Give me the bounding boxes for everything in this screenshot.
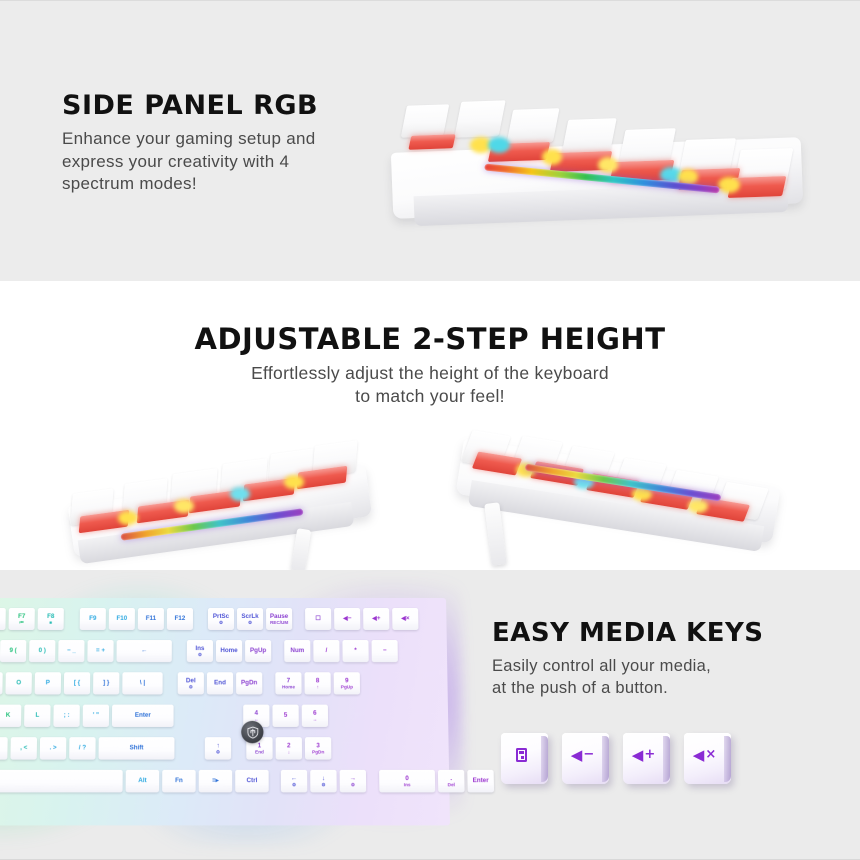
keycap[interactable]: F10 xyxy=(109,608,135,630)
keycap-legend: ScrLk xyxy=(241,613,258,620)
key-row-qwerty-row: IOP[ {] }\ |Del⚙EndPgDn7Home8↑9PgUp xyxy=(0,672,360,694)
speaker-icon-shape: ◀ xyxy=(693,746,705,764)
keycap-legend: ↓ xyxy=(322,775,325,782)
side-rgb-text-block: SIDE PANEL RGB Enhance your gaming setup… xyxy=(62,89,392,196)
speaker-icon-shape: ◀ xyxy=(632,746,644,764)
led-glow xyxy=(284,475,304,489)
keycap[interactable]: F9 xyxy=(80,608,106,630)
keycap-sublegend: PgDn xyxy=(312,749,324,754)
keycap-legend: ◀× xyxy=(401,615,409,622)
keycap-legend: − xyxy=(383,648,387,655)
keycap[interactable]: End xyxy=(207,672,233,694)
keyboard-closeup-rgb: 5F7⏮F8■F9F10F11F12PrtSc⚙ScrLk⚙PauseREC/U… xyxy=(0,598,450,825)
keycap-sublegend: ⚙ xyxy=(351,782,355,787)
keycap-legend: ↑ xyxy=(216,742,219,749)
keycap[interactable]: . > xyxy=(40,737,67,759)
keycap-legend: ◀+ xyxy=(372,615,380,622)
keycap[interactable]: = + xyxy=(87,640,113,662)
keycap[interactable]: 2↓ xyxy=(276,737,302,759)
keycap-sublegend: ⚙ xyxy=(189,684,193,689)
keycap[interactable]: ' " xyxy=(83,705,109,727)
keycap[interactable]: K xyxy=(0,705,21,727)
keycap[interactable]: 7Home xyxy=(275,672,301,694)
keycap-legend: End xyxy=(214,680,226,687)
keycap-legend: , < xyxy=(20,745,27,752)
keycap-legend: . xyxy=(450,775,452,782)
keycap xyxy=(506,108,559,144)
subtext-line: at the push of a button. xyxy=(492,677,832,699)
media-key-label: + xyxy=(644,747,655,762)
keycap-sublegend: End xyxy=(255,749,264,754)
keycap[interactable]: ◀+ xyxy=(363,608,389,630)
mute-key[interactable]: ◀× xyxy=(684,733,731,784)
subtext-line: Effortlessly adjust the height of the ke… xyxy=(0,362,860,385)
keycap-legend: 7 xyxy=(287,677,291,684)
keycap[interactable]: ◀− xyxy=(334,608,360,630)
keycap[interactable]: PrtSc⚙ xyxy=(208,608,234,630)
keycap-legend: PrtSc xyxy=(213,613,229,620)
fantech-logo xyxy=(241,721,263,743)
keycap-legend: ◀− xyxy=(343,615,351,622)
key-row-bottom-row: AltFn≡▸Ctrl←⚙↓⚙→⚙0Ins.DelEnter xyxy=(0,770,494,793)
led-glow xyxy=(542,149,562,165)
keycap[interactable]: PgUp xyxy=(245,640,271,662)
keycap[interactable]: , < xyxy=(10,737,37,759)
speaker-icon: ◀− xyxy=(571,746,594,764)
keycap-legend: ; : xyxy=(64,712,70,719)
keycap-legend: ] } xyxy=(103,680,109,687)
keycap[interactable]: ☐ xyxy=(305,608,331,630)
keycap-sublegend: → xyxy=(313,717,318,722)
keycap[interactable]: Del⚙ xyxy=(178,672,204,694)
keycap-legend: PgDn xyxy=(241,680,257,687)
keycap[interactable] xyxy=(0,770,123,793)
keycap-legend: Pause xyxy=(270,613,288,620)
kickstand-foot xyxy=(484,502,506,565)
keycap-legend: ← xyxy=(291,775,297,782)
keycap-legend: Ctrl xyxy=(247,777,258,784)
keycap[interactable]: Shift xyxy=(98,737,174,759)
keycap[interactable]: / xyxy=(313,640,339,662)
keycap[interactable]: ← xyxy=(116,640,171,662)
media-keycap-row: ◀−◀+◀× xyxy=(501,733,731,784)
led-glow xyxy=(598,157,618,173)
keycap[interactable]: 6→ xyxy=(302,705,328,727)
calculator-icon-shape xyxy=(516,748,527,762)
keycap[interactable]: ScrLk⚙ xyxy=(237,608,263,630)
keycap-legend: F12 xyxy=(175,615,186,622)
keycap-sublegend: ■ xyxy=(49,620,52,625)
subtext-line: express your creativity with 4 xyxy=(62,151,392,174)
keycap-legend: 4 xyxy=(255,709,259,716)
keycap[interactable]: Num xyxy=(284,640,310,662)
keycap-legend: 2 xyxy=(287,742,291,749)
keycap[interactable]: F11 xyxy=(138,608,164,630)
keycap[interactable]: [ { xyxy=(64,672,90,694)
keycap-sublegend: ↓ xyxy=(288,749,290,754)
keycap[interactable]: 0Ins xyxy=(379,770,435,793)
keycap-legend: → xyxy=(350,775,356,782)
keycap-legend: Shift xyxy=(130,745,144,752)
keycap-legend: Home xyxy=(220,648,237,655)
keycap[interactable]: 9PgUp xyxy=(334,672,360,694)
keyboard-side-view-high-angle xyxy=(452,423,792,563)
keycap[interactable]: 9 ( xyxy=(0,640,26,662)
keycap-sublegend: ⚙ xyxy=(219,620,223,625)
keycap-sublegend: Del xyxy=(448,782,455,787)
keycap[interactable]: ◀× xyxy=(392,608,418,630)
side-rgb-subtext: Enhance your gaming setup and express yo… xyxy=(62,128,392,196)
keycap[interactable]: Enter xyxy=(112,705,174,727)
keycap-legend: F8 xyxy=(47,613,54,620)
keycap[interactable]: I xyxy=(0,672,3,694)
media-key-label: − xyxy=(583,747,594,762)
keycap[interactable]: M xyxy=(0,737,8,759)
keycap[interactable]: 3PgDn xyxy=(305,737,331,759)
led-glow xyxy=(718,177,740,193)
keycap[interactable]: L xyxy=(24,705,51,727)
keyboard-side-view-low-angle xyxy=(62,433,382,563)
keycap-legend: 9 ( xyxy=(9,648,16,655)
keycap-legend: 0 xyxy=(405,775,409,782)
keycap[interactable]: ←⚙ xyxy=(281,770,307,793)
keycap-legend: 0 ) xyxy=(39,648,46,655)
keycap-sublegend: ⚙ xyxy=(248,620,252,625)
keycap-sublegend: ⚙ xyxy=(216,749,220,754)
keycap-legend: O xyxy=(16,680,21,687)
keycap-legend: K xyxy=(6,712,11,719)
led-glow xyxy=(488,137,510,153)
media-keys-text-block: EASY MEDIA KEYS Easily control all your … xyxy=(492,617,832,699)
height-headline: ADJUSTABLE 2-STEP HEIGHT xyxy=(0,320,860,358)
keycap-legend: Fn xyxy=(175,777,183,784)
keycap-legend: 9 xyxy=(345,677,349,684)
keycap[interactable]: F8■ xyxy=(38,608,64,630)
key-row-home-row: JKL; :' "Enter4←56→ xyxy=(0,705,328,727)
keycap[interactable]: .Del xyxy=(438,770,465,793)
keycap[interactable]: ; : xyxy=(53,705,80,727)
keycap-legend: F10 xyxy=(116,615,127,622)
keycap-legend: \ | xyxy=(140,680,145,687)
keycap-legend: P xyxy=(46,680,50,687)
keycap-legend: = + xyxy=(96,648,105,655)
keycap-legend: / ? xyxy=(79,745,86,752)
keycap-sublegend: Home xyxy=(282,684,295,689)
subtext-line: Enhance your gaming setup and xyxy=(62,128,392,151)
keycap-legend: − _ xyxy=(67,648,76,655)
keycap[interactable]: Home xyxy=(216,640,242,662)
keycap[interactable]: Ins⚙ xyxy=(187,640,213,662)
keycap-legend: 8 xyxy=(316,677,320,684)
keycap-legend: 5 xyxy=(284,712,288,719)
keycap[interactable]: F7⏮ xyxy=(8,608,34,630)
subtext-line: spectrum modes! xyxy=(62,173,392,196)
led-glow xyxy=(174,499,194,513)
keycap-sublegend: ⚙ xyxy=(198,652,202,657)
led-glow xyxy=(118,511,138,525)
keycap[interactable]: →⚙ xyxy=(340,770,367,793)
speaker-icon: ◀× xyxy=(693,746,716,764)
keycap[interactable]: PgDn xyxy=(236,672,262,694)
keycap-legend: Del xyxy=(186,677,196,684)
keycap[interactable]: ↓⚙ xyxy=(310,770,337,793)
volume-up-key[interactable]: ◀+ xyxy=(623,733,670,784)
keyboard-side-view-rgb xyxy=(392,97,802,225)
keycap-legend: F9 xyxy=(89,615,96,622)
keycap-legend: 1 xyxy=(258,742,262,749)
keycap-legend: Enter xyxy=(473,777,489,784)
keycap[interactable]: Alt xyxy=(126,770,160,793)
keycap[interactable]: Fn xyxy=(162,770,196,793)
media-player-key[interactable] xyxy=(501,733,548,784)
subtext-line: to match your feel! xyxy=(0,385,860,408)
led-glow xyxy=(230,487,250,501)
calculator-icon xyxy=(516,748,527,762)
height-subtext: Effortlessly adjust the height of the ke… xyxy=(0,362,860,408)
keycap-legend: [ { xyxy=(74,680,80,687)
keycap-legend: / xyxy=(326,648,328,655)
keycap-sublegend: REC/UM xyxy=(270,620,288,625)
led-glow xyxy=(688,499,708,513)
keycap xyxy=(454,100,505,138)
key-row-number-row: 8 *9 (0 )− _= +←Ins⚙HomePgUpNum/*− xyxy=(0,640,398,662)
subtext-line: Easily control all your media, xyxy=(492,655,832,677)
keycap xyxy=(401,104,450,137)
panel-adjustable-height: ADJUSTABLE 2-STEP HEIGHT Effortlessly ad… xyxy=(0,281,860,570)
volume-down-key[interactable]: ◀− xyxy=(562,733,609,784)
panel-side-panel-rgb: SIDE PANEL RGB Enhance your gaming setup… xyxy=(0,0,860,281)
keycap[interactable]: − _ xyxy=(58,640,84,662)
speaker-icon-shape: ◀ xyxy=(571,746,583,764)
keycap-legend: 3 xyxy=(316,742,320,749)
keycap[interactable]: P xyxy=(35,672,61,694)
keycap[interactable]: 0 ) xyxy=(29,640,55,662)
keycap[interactable]: Enter xyxy=(467,770,494,793)
keycap-sublegend: PgUp xyxy=(341,684,353,689)
keycap[interactable]: 8↑ xyxy=(304,672,330,694)
keycap-legend: Alt xyxy=(138,777,146,784)
keycap-legend: PgUp xyxy=(250,648,266,655)
keycap-legend: ← xyxy=(141,648,147,655)
keycap-legend: 6 xyxy=(313,709,317,716)
keycap-legend: ☐ xyxy=(315,615,321,622)
keycap-legend: ' " xyxy=(93,712,99,719)
keycap[interactable]: 5 xyxy=(0,608,6,630)
media-key-label: × xyxy=(705,747,716,762)
key-row-fn-row: 5F7⏮F8■F9F10F11F12PrtSc⚙ScrLk⚙PauseREC/U… xyxy=(0,608,418,630)
media-keys-headline: EASY MEDIA KEYS xyxy=(492,617,832,650)
keycap[interactable]: ] } xyxy=(93,672,119,694)
media-keys-subtext: Easily control all your media, at the pu… xyxy=(492,655,832,699)
keycap-legend: F7 xyxy=(18,613,25,620)
keycap-legend: L xyxy=(35,712,39,719)
switch-housing xyxy=(408,134,455,150)
keycap-legend: Num xyxy=(290,648,304,655)
height-text-block: ADJUSTABLE 2-STEP HEIGHT Effortlessly ad… xyxy=(0,320,860,408)
keycap-legend: Enter xyxy=(135,712,151,719)
side-rgb-headline: SIDE PANEL RGB xyxy=(62,89,392,123)
product-feature-infographic: SIDE PANEL RGB Enhance your gaming setup… xyxy=(0,0,860,860)
keycap[interactable]: F12 xyxy=(167,608,193,630)
keycap-sublegend: ↑ xyxy=(316,684,318,689)
keycap[interactable]: / ? xyxy=(69,737,96,759)
speaker-icon: ◀+ xyxy=(632,746,655,764)
keycap-legend: F11 xyxy=(146,615,156,622)
key-row-shift-row: M, <. >/ ?Shift↑⚙1End2↓3PgDn xyxy=(0,737,331,759)
keycap[interactable]: ≡▸ xyxy=(199,770,232,793)
keycap-sublegend: ⚙ xyxy=(292,782,296,787)
keycap-sublegend: ⚙ xyxy=(321,782,325,787)
keycap-legend: * xyxy=(354,648,357,655)
keycap-legend: . > xyxy=(49,745,56,752)
keycap[interactable]: \ | xyxy=(122,672,162,694)
keycap-legend: ≡▸ xyxy=(212,777,219,784)
keycap[interactable]: − xyxy=(371,640,397,662)
keycap[interactable]: * xyxy=(342,640,368,662)
keycap[interactable]: PauseREC/UM xyxy=(266,608,292,630)
keycap[interactable]: ↑⚙ xyxy=(205,737,231,759)
keycap-legend: Ins xyxy=(195,645,204,652)
keycap[interactable]: O xyxy=(5,672,32,694)
keycap-sublegend: ⏮ xyxy=(19,620,23,625)
keycap-sublegend: Ins xyxy=(404,782,411,787)
keycap[interactable]: 5 xyxy=(272,705,298,727)
keycap[interactable]: Ctrl xyxy=(235,770,269,793)
kickstand-foot xyxy=(291,528,311,570)
